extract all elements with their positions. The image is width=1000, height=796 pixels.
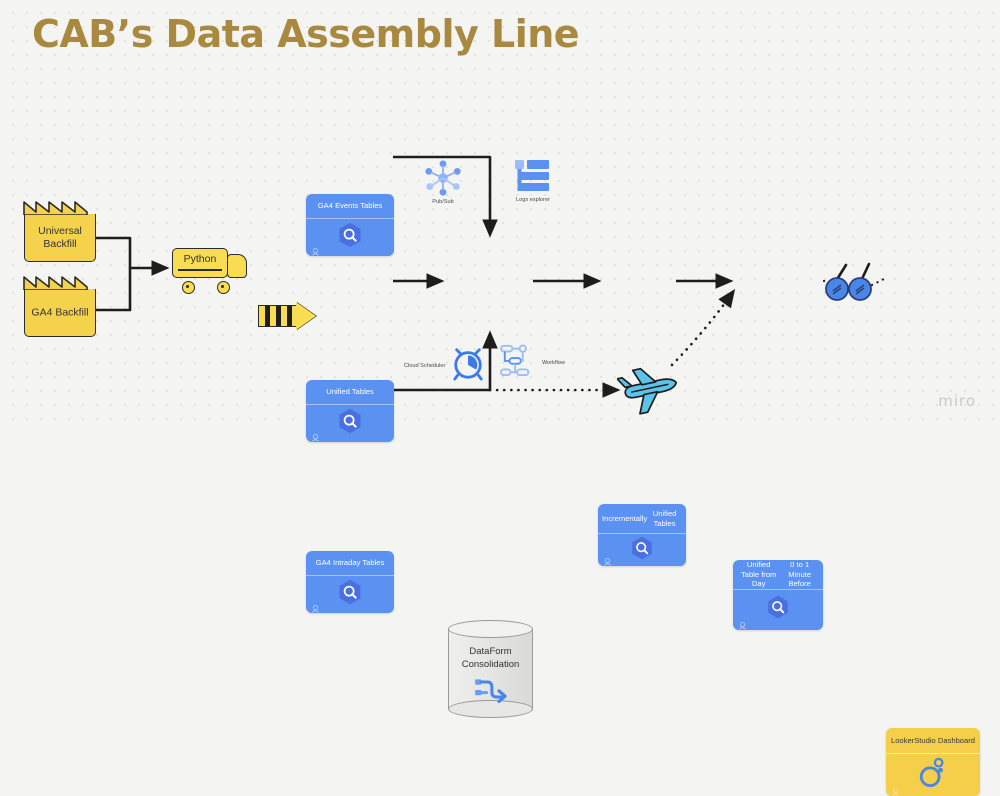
card-corner-icon bbox=[311, 243, 320, 252]
card-corner-icon bbox=[311, 600, 320, 609]
cloud-scheduler-icon bbox=[451, 345, 485, 386]
card-title: Unified Table from Day 0 to 1 Minute Bef… bbox=[733, 560, 823, 590]
service-workflow[interactable]: Workflow bbox=[500, 343, 565, 382]
card-unified-table-day0[interactable]: Unified Table from Day 0 to 1 Minute Bef… bbox=[733, 560, 823, 630]
truck-cab bbox=[227, 254, 247, 278]
truck-wheel bbox=[217, 281, 230, 294]
service-label: Cloud Scheduler bbox=[404, 363, 445, 369]
card-title: Incrementally Unified Tables bbox=[598, 504, 686, 534]
cylinder-top bbox=[448, 620, 533, 638]
truck-wheel bbox=[182, 281, 195, 294]
source-ga4-backfill[interactable]: GA4 Backfill bbox=[24, 289, 96, 337]
card-title: LookerStudio Dashboard bbox=[886, 728, 980, 754]
card-unified-tables[interactable]: Unified Tables bbox=[306, 380, 394, 442]
binoculars-icon bbox=[824, 259, 878, 312]
dataform-consolidation-node[interactable]: DataForm Consolidation bbox=[448, 620, 533, 718]
dataform-label: DataForm Consolidation bbox=[448, 646, 533, 672]
card-corner-icon bbox=[738, 617, 747, 626]
page-title: CAB’s Data Assembly Line bbox=[32, 12, 579, 56]
truck-divider bbox=[178, 269, 222, 271]
airplane-icon bbox=[617, 363, 685, 420]
service-label: Workflow bbox=[542, 360, 565, 366]
hazard-arrow-icon bbox=[258, 305, 316, 327]
card-ga4-intraday-tables[interactable]: GA4 Intraday Tables bbox=[306, 551, 394, 613]
bigquery-icon bbox=[336, 578, 364, 611]
card-lookerstudio-dashboard[interactable]: LookerStudio Dashboard bbox=[886, 728, 980, 796]
card-corner-icon bbox=[603, 553, 612, 562]
service-label: Logs explorer bbox=[508, 197, 558, 203]
factory-roof-icon bbox=[23, 199, 95, 215]
factory-roof-icon bbox=[23, 274, 95, 290]
looker-studio-icon bbox=[918, 756, 948, 793]
service-cloud-scheduler[interactable]: Cloud Scheduler bbox=[404, 345, 485, 386]
bigquery-icon bbox=[336, 221, 364, 254]
python-truck[interactable]: Python bbox=[172, 248, 250, 294]
bigquery-icon bbox=[629, 535, 655, 566]
dataform-icon bbox=[473, 675, 509, 710]
source-universal-backfill[interactable]: Universal Backfill bbox=[24, 214, 96, 262]
card-incrementally-unified-tables[interactable]: Incrementally Unified Tables bbox=[598, 504, 686, 566]
miro-watermark: miro bbox=[938, 392, 976, 410]
card-corner-icon bbox=[311, 429, 320, 438]
service-logs-explorer[interactable]: Logs explorer bbox=[508, 160, 558, 203]
source-label: GA4 Backfill bbox=[25, 306, 95, 319]
card-title: GA4 Events Tables bbox=[306, 194, 394, 219]
bigquery-icon bbox=[765, 594, 791, 625]
card-title: Unified Tables bbox=[306, 380, 394, 405]
python-label: Python bbox=[172, 253, 228, 265]
service-pubsub[interactable]: Pub/Sub bbox=[418, 160, 468, 205]
source-label: Universal Backfill bbox=[25, 224, 95, 250]
card-title: GA4 Intraday Tables bbox=[306, 551, 394, 576]
card-ga4-events-tables[interactable]: GA4 Events Tables bbox=[306, 194, 394, 256]
service-label: Pub/Sub bbox=[418, 199, 468, 205]
logs-explorer-icon bbox=[508, 160, 558, 194]
pubsub-icon bbox=[418, 160, 468, 196]
card-corner-icon bbox=[891, 783, 900, 792]
workflow-icon bbox=[500, 343, 536, 382]
bigquery-icon bbox=[336, 407, 364, 440]
